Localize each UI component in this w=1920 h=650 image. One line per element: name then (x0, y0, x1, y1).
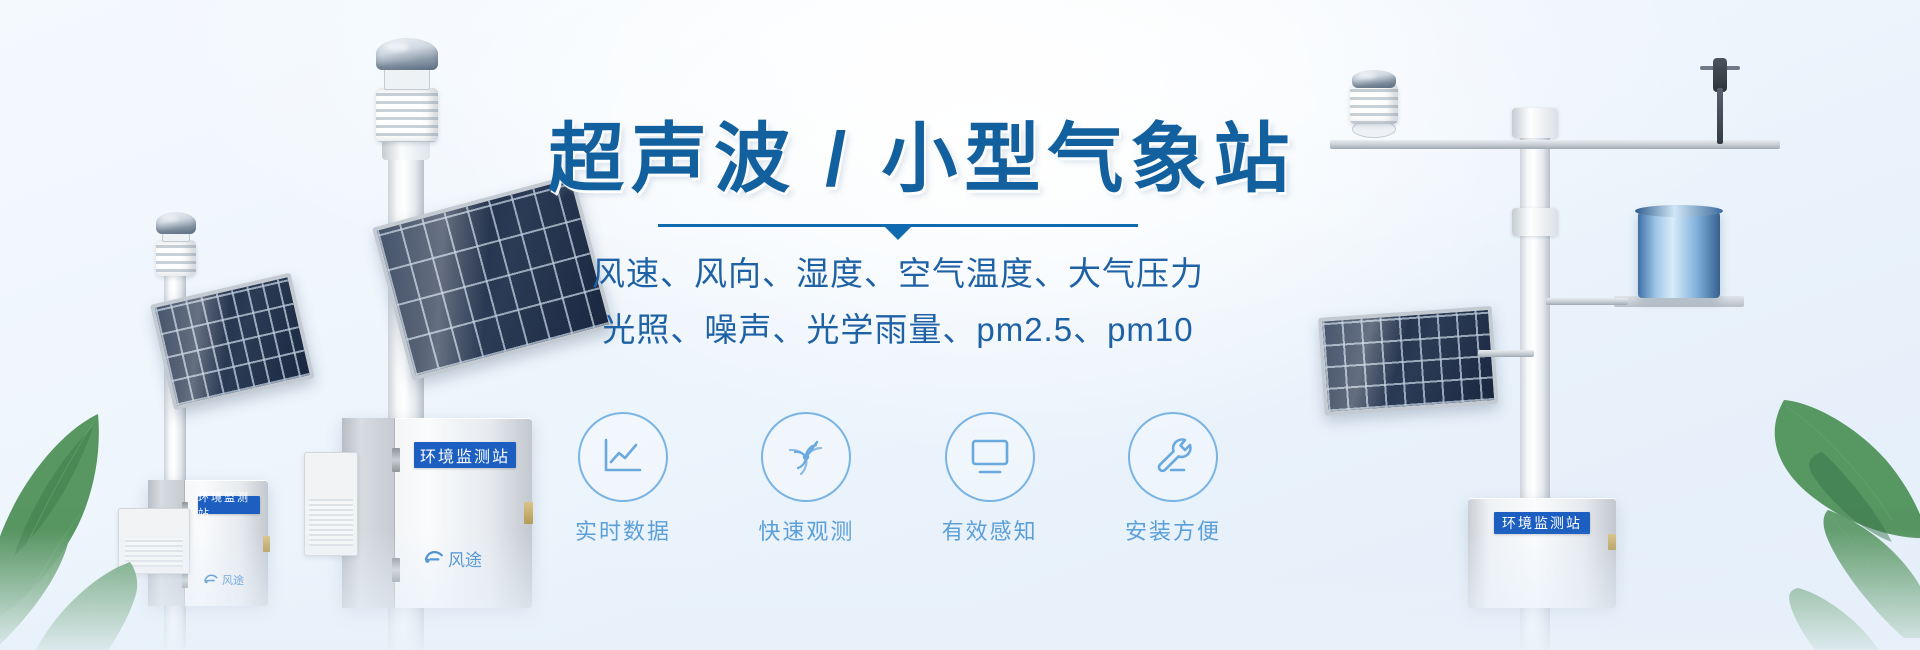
line-chart-icon (578, 412, 668, 502)
cabinet-label: 环境监测站 (414, 442, 516, 468)
feature-item-easy-install[interactable]: 安装方便 (1098, 412, 1248, 546)
ground-fade (0, 530, 1920, 650)
feature-label: 有效感知 (942, 514, 1038, 546)
panel-glare (1318, 306, 1431, 416)
ultrasonic-sensor-dome (376, 38, 438, 70)
feature-item-realtime-data[interactable]: 实时数据 (548, 412, 698, 546)
hero-text-block: 超声波 / 小型气象站 风速、风向、湿度、空气温度、大气压力 光照、噪声、光学雨… (548, 118, 1248, 356)
subtitle-line-1: 风速、风向、湿度、空气温度、大气压力 (548, 248, 1248, 300)
monitor-screen-icon (945, 412, 1035, 502)
sensor-stem (1717, 88, 1723, 144)
divider-chevron-icon (885, 227, 911, 240)
product-hero-banner: 环境监测站 风途 (0, 0, 1920, 650)
optical-rain-gauge (1638, 210, 1720, 298)
subtitle-line-2: 光照、噪声、光学雨量、pm2.5、pm10 (548, 304, 1248, 356)
cabinet-hinge (392, 448, 400, 472)
radiation-shield (1350, 84, 1398, 124)
radar-scan-icon (761, 412, 851, 502)
wind-sensor (1700, 58, 1740, 144)
feature-item-fast-observation[interactable]: 快速观测 (731, 412, 881, 546)
solar-panel-arm (1478, 350, 1534, 357)
feature-label: 快速观测 (758, 514, 854, 546)
solar-panel (1318, 306, 1498, 416)
radiation-shield (376, 88, 438, 142)
ultrasonic-sensor-dome (1352, 70, 1396, 88)
page-title: 超声波 / 小型气象站 (548, 118, 1248, 202)
feature-item-effective-sensing[interactable]: 有效感知 (915, 412, 1065, 546)
feature-label: 安装方便 (1125, 514, 1221, 546)
rain-gauge-arm (1546, 298, 1628, 305)
feature-list: 实时数据 快速观测 (548, 412, 1248, 546)
wrench-icon (1128, 412, 1218, 502)
title-divider (658, 220, 1138, 234)
radiation-shield (156, 240, 196, 276)
cabinet-latch (524, 502, 533, 524)
mast-top-collar (1512, 108, 1558, 138)
anemometer-body (1713, 58, 1727, 92)
mast-collar (1512, 208, 1558, 236)
rain-gauge-rim (1635, 205, 1723, 217)
ultrasonic-sensor-dome (156, 212, 196, 234)
feature-label: 实时数据 (575, 514, 671, 546)
